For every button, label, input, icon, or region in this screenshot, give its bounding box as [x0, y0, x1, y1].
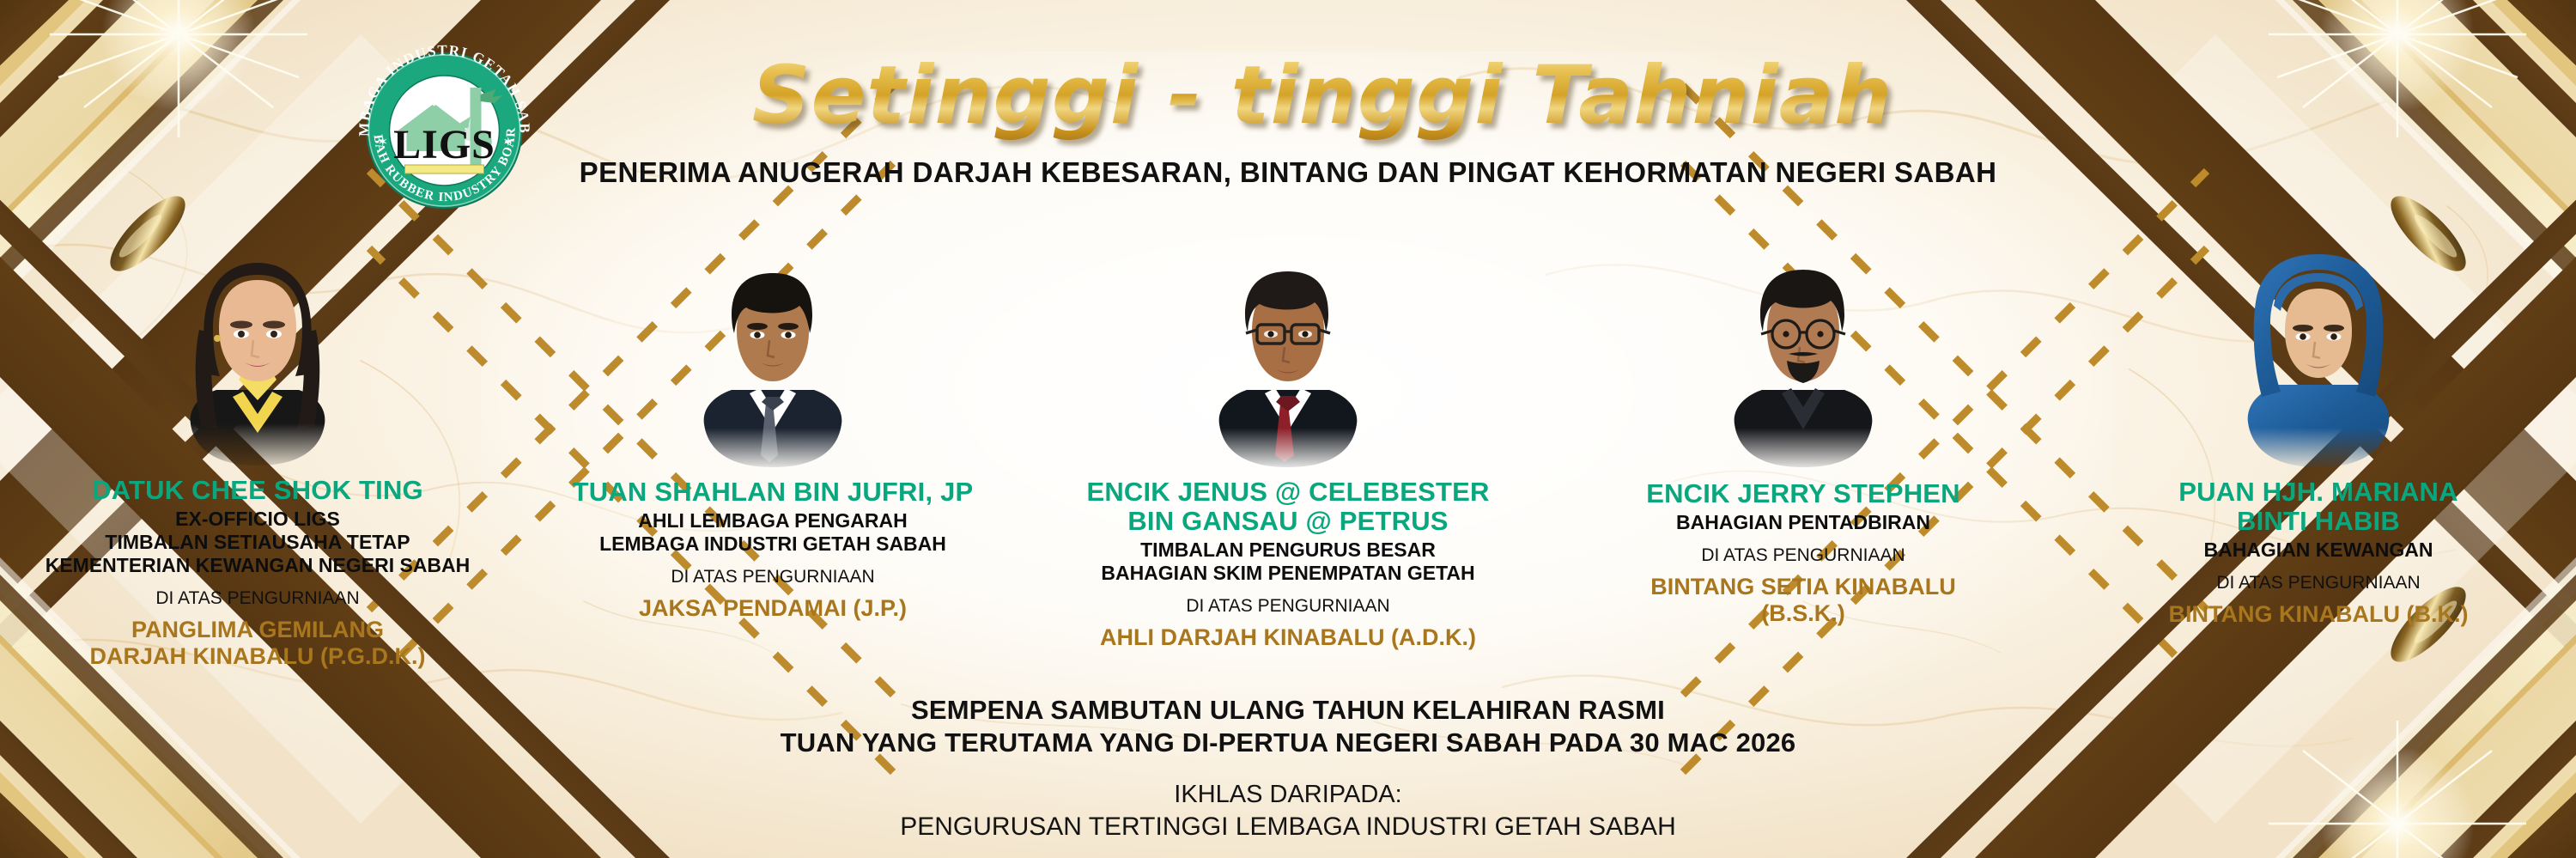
honouree-award: JAKSA PENDAMAI (J.P.)	[532, 595, 1013, 622]
honouree-card: ENCIK JENUS @ CELEBESTER BIN GANSAU @ PE…	[1030, 251, 1546, 672]
conferment-label: DI ATAS PENGURNIAAN	[1048, 595, 1528, 617]
avatar	[1696, 251, 1911, 472]
honouree-text: DATUK CHEE SHOK TING EX-OFFICIO LIGS TIM…	[17, 476, 498, 670]
honouree-list: DATUK CHEE SHOK TING EX-OFFICIO LIGS TIM…	[0, 251, 2576, 672]
honouree-position: BAHAGIAN KEWANGAN	[2078, 539, 2559, 562]
honouree-award: AHLI DARJAH KINABALU (A.D.K.)	[1048, 624, 1528, 651]
congratulations-banner: LEMBAGA INDUSTRI GETAH SABAH SABAH RUBBE…	[0, 0, 2576, 858]
honouree-text: TUAN SHAHLAN BIN JUFRI, JP AHLI LEMBAGA …	[532, 478, 1013, 622]
honouree-text: ENCIK JERRY STEPHEN BAHAGIAN PENTADBIRAN…	[1563, 479, 2044, 627]
honouree-card: TUAN SHAHLAN BIN JUFRI, JP AHLI LEMBAGA …	[515, 251, 1030, 672]
page-title: Setinggi - tinggi Tahniah	[550, 50, 2095, 144]
banner-header: LEMBAGA INDUSTRI GETAH SABAH SABAH RUBBE…	[0, 19, 2576, 234]
honouree-award: PANGLIMA GEMILANG DARJAH KINABALU (P.G.D…	[17, 617, 498, 670]
avatar	[1181, 251, 1395, 472]
page-subtitle: PENERIMA ANUGERAH DARJAH KEBESARAN, BINT…	[0, 156, 2576, 189]
honouree-name: PUAN HJH. MARIANA BINTI HABIB	[2078, 478, 2559, 536]
honouree-award: BINTANG KINABALU (B.K.)	[2078, 601, 2559, 628]
avatar	[150, 251, 365, 472]
honouree-name: ENCIK JENUS @ CELEBESTER BIN GANSAU @ PE…	[1048, 478, 1528, 536]
conferment-label: DI ATAS PENGURNIAAN	[17, 587, 498, 609]
honouree-position: TIMBALAN PENGURUS BESAR BAHAGIAN SKIM PE…	[1048, 539, 1528, 585]
honouree-card: ENCIK JERRY STEPHEN BAHAGIAN PENTADBIRAN…	[1546, 251, 2061, 672]
avatar	[2211, 251, 2426, 472]
occasion-line-1: SEMPENA SAMBUTAN ULANG TAHUN KELAHIRAN R…	[0, 694, 2576, 727]
svg-text:✶: ✶	[378, 135, 389, 149]
conferment-label: DI ATAS PENGURNIAAN	[532, 566, 1013, 587]
honouree-position: AHLI LEMBAGA PENGARAH LEMBAGA INDUSTRI G…	[532, 509, 1013, 556]
honouree-text: ENCIK JENUS @ CELEBESTER BIN GANSAU @ PE…	[1048, 478, 1528, 651]
banner-footer: SEMPENA SAMBUTAN ULANG TAHUN KELAHIRAN R…	[0, 694, 2576, 843]
honouree-name: TUAN SHAHLAN BIN JUFRI, JP	[532, 478, 1013, 507]
conferment-label: DI ATAS PENGURNIAAN	[2078, 572, 2559, 593]
conferment-label: DI ATAS PENGURNIAAN	[1563, 545, 2044, 566]
honouree-card: DATUK CHEE SHOK TING EX-OFFICIO LIGS TIM…	[0, 251, 515, 672]
svg-text:✶: ✶	[503, 135, 514, 149]
honouree-text: PUAN HJH. MARIANA BINTI HABIB BAHAGIAN K…	[2078, 478, 2559, 628]
avatar	[665, 251, 880, 472]
from-organisation: PENGURUSAN TERTINGGI LEMBAGA INDUSTRI GE…	[0, 811, 2576, 843]
honouree-award: BINTANG SETIA KINABALU (B.S.K.)	[1563, 574, 2044, 627]
occasion-line-2: TUAN YANG TERUTAMA YANG DI-PERTUA NEGERI…	[0, 727, 2576, 759]
from-label: IKHLAS DARIPADA:	[0, 778, 2576, 811]
honouree-name: DATUK CHEE SHOK TING	[17, 476, 498, 505]
honouree-name: ENCIK JERRY STEPHEN	[1563, 479, 2044, 508]
honouree-position: EX-OFFICIO LIGS TIMBALAN SETIAUSAHA TETA…	[17, 508, 498, 577]
honouree-card: PUAN HJH. MARIANA BINTI HABIB BAHAGIAN K…	[2061, 251, 2576, 672]
honouree-position: BAHAGIAN PENTADBIRAN	[1563, 511, 2044, 534]
